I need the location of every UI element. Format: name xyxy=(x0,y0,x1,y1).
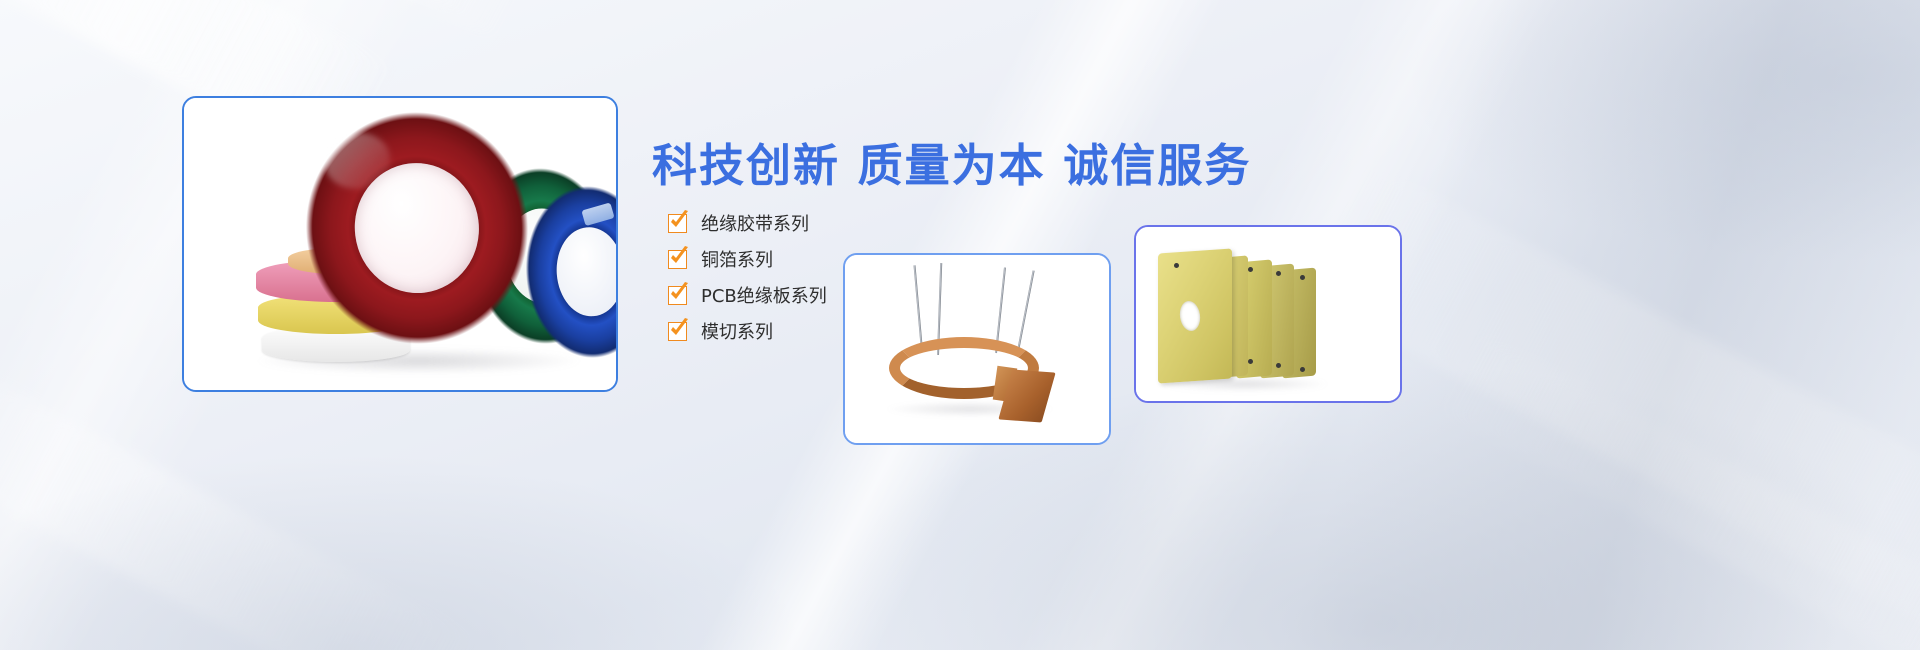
pcb-board-rivet xyxy=(1276,363,1281,368)
pcb-board-rivet xyxy=(1300,367,1305,372)
feature-list: 绝缘胶带系列 铜箔系列 PCB绝缘板系列 模切系列 xyxy=(668,205,827,349)
pcb-board-rivet xyxy=(1276,271,1281,276)
banner-headline: 科技创新 质量为本 诚信服务 xyxy=(652,129,1251,194)
tape-roll-label xyxy=(582,202,615,226)
check-square-icon xyxy=(668,250,687,269)
pcb-board-rivet xyxy=(1248,267,1253,272)
pcb-board-rivet xyxy=(1248,359,1253,364)
pcb-board-rivet xyxy=(1300,275,1305,280)
lead-wire xyxy=(1017,270,1035,351)
light-streak xyxy=(1435,330,1920,650)
copper-foil-coil-photo xyxy=(845,255,1109,443)
feature-list-item-label: 铜箔系列 xyxy=(701,246,773,272)
feature-list-item[interactable]: 铜箔系列 xyxy=(668,241,827,277)
insulation-tape-rolls-photo xyxy=(184,98,616,390)
check-square-icon xyxy=(668,214,687,233)
check-square-icon xyxy=(668,286,687,305)
feature-list-item-label: PCB绝缘板系列 xyxy=(701,282,827,308)
light-streak xyxy=(128,0,532,44)
pcb-insulation-boards-photo xyxy=(1136,227,1400,401)
feature-list-item-label: 绝缘胶带系列 xyxy=(701,210,809,236)
product-card-pcb-insulation-boards[interactable] xyxy=(1134,225,1402,403)
product-card-insulation-tape-rolls[interactable] xyxy=(182,96,618,392)
pcb-board-rivet xyxy=(1174,263,1179,268)
feature-list-item[interactable]: PCB绝缘板系列 xyxy=(668,277,827,313)
feature-list-item[interactable]: 模切系列 xyxy=(668,313,827,349)
check-square-icon xyxy=(668,322,687,341)
feature-list-item[interactable]: 绝缘胶带系列 xyxy=(668,205,827,241)
product-card-copper-foil-coil[interactable] xyxy=(843,253,1111,445)
lead-wire xyxy=(914,265,923,351)
feature-list-item-label: 模切系列 xyxy=(701,318,773,344)
